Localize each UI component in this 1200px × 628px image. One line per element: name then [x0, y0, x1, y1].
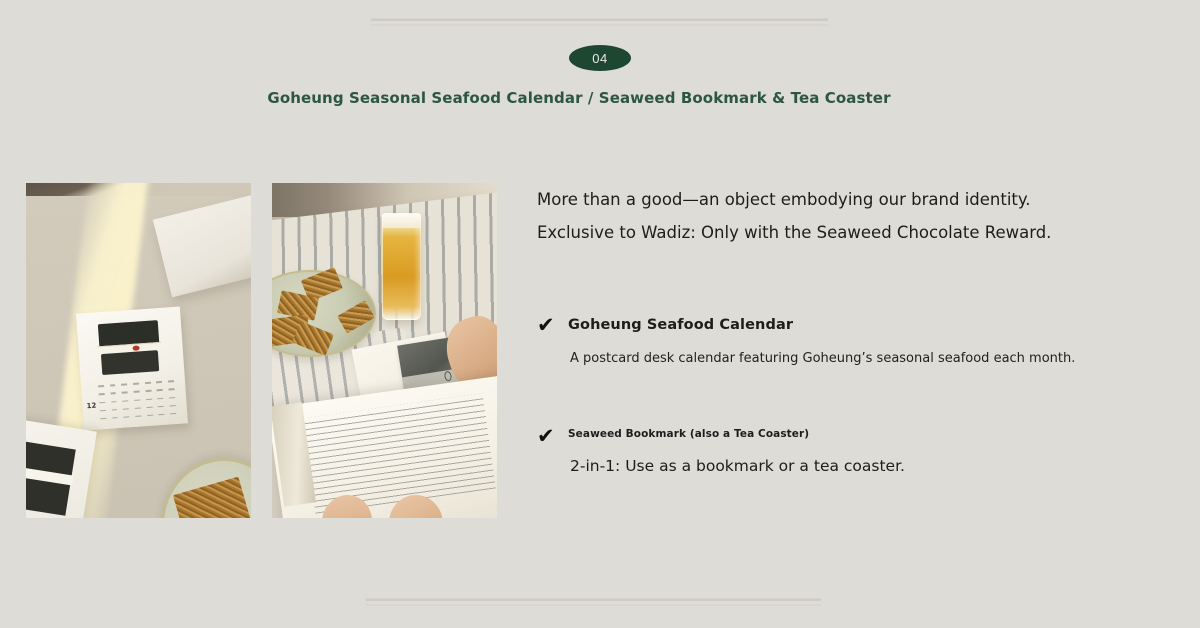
- feature-title: Goheung Seafood Calendar: [568, 317, 1157, 333]
- divider-bottom: [366, 598, 821, 601]
- check-icon: ✔: [537, 315, 555, 336]
- content-column: More than a good—an object embodying our…: [537, 183, 1157, 475]
- photo1-seaweed-bottom: [101, 351, 159, 376]
- feature-title: Seaweed Bookmark (also a Tea Coaster): [568, 428, 1157, 440]
- lead-line-1: More than a good—an object embodying our…: [537, 183, 1157, 216]
- step-badge-number: 04: [592, 51, 607, 66]
- photo2-beer-foam: [383, 214, 419, 228]
- desk-calendar-photo: 12: [26, 183, 251, 518]
- step-badge: 04: [569, 45, 631, 71]
- divider-bottom-shadow: [366, 604, 821, 606]
- feature-item-bookmark: ✔ Seaweed Bookmark (also a Tea Coaster) …: [537, 428, 1157, 475]
- check-icon: ✔: [537, 426, 555, 447]
- photo2-book-text: [302, 393, 495, 513]
- divider-top: [371, 18, 828, 21]
- photo1-calendar-grid: [95, 378, 178, 423]
- feature-description: A postcard desk calendar featuring Goheu…: [570, 351, 1157, 366]
- photo2-beer-glass: [382, 213, 420, 320]
- bookmark-photo: [272, 183, 497, 518]
- feature-list: ✔ Goheung Seafood Calendar A postcard de…: [537, 317, 1157, 475]
- photo1-calendar-card: 12: [76, 307, 187, 431]
- photo1-calendar-month: 12: [86, 402, 96, 411]
- lead-line-2: Exclusive to Wadiz: Only with the Seawee…: [537, 216, 1157, 249]
- section-title: Goheung Seasonal Seafood Calendar / Seaw…: [0, 89, 1158, 107]
- slide-page: 04 Goheung Seasonal Seafood Calendar / S…: [0, 0, 1200, 628]
- divider-top-shadow: [371, 24, 828, 26]
- feature-description: 2-in-1: Use as a bookmark or a tea coast…: [570, 457, 1157, 475]
- feature-item-calendar: ✔ Goheung Seafood Calendar A postcard de…: [537, 317, 1157, 366]
